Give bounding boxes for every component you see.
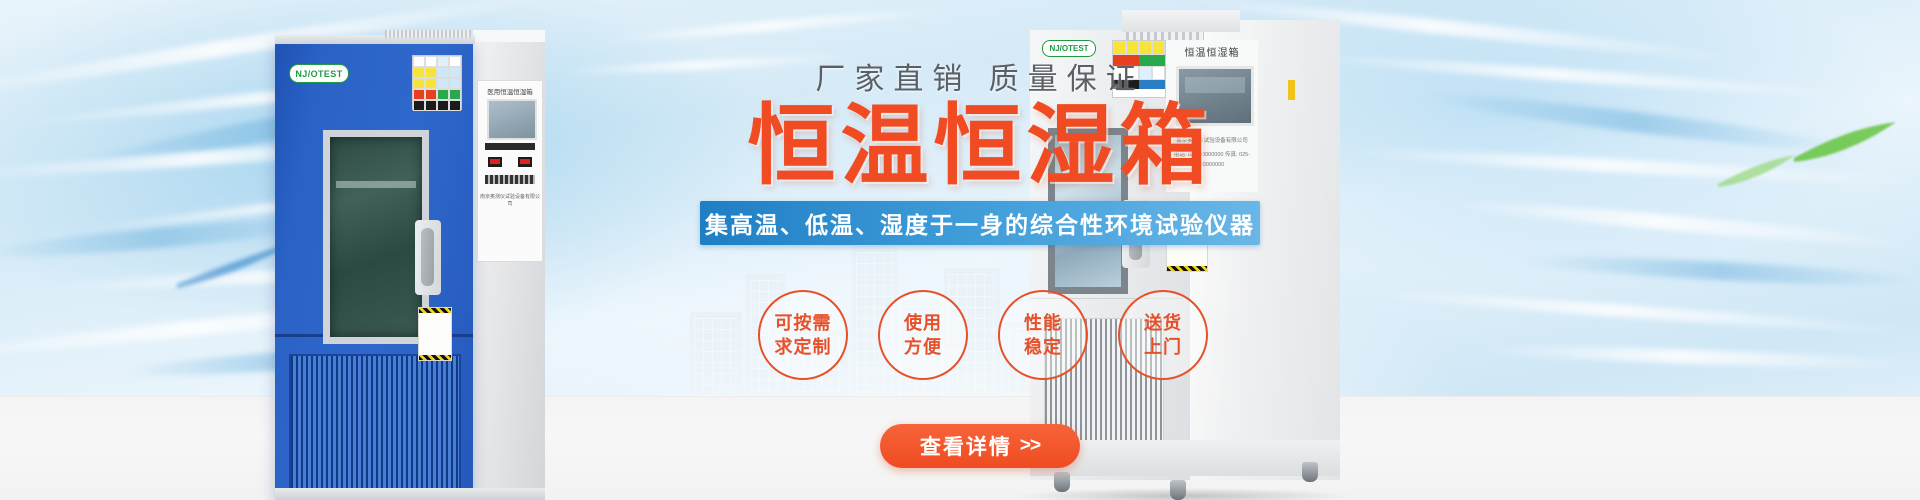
feature-badge-easy-use-line1: 使用	[904, 311, 942, 335]
feature-badge-stable-line1: 性能	[1024, 311, 1062, 335]
machine-left-caution-label	[418, 307, 452, 361]
machine-left-led-temp	[488, 157, 502, 167]
product-image-blue-chamber[interactable]: NJ/OTEST 医用恒温恒湿箱 南京奥测仪试验设备有限公司	[275, 30, 545, 500]
machine-left-control-panel[interactable]: 医用恒温恒湿箱 南京奥测仪试验设备有限公司	[477, 80, 543, 262]
caution-stripe-bottom	[419, 355, 451, 360]
machine-right-caster-rear	[1302, 462, 1318, 482]
machine-left-label-strip	[485, 143, 535, 150]
chevron-right-double-icon: >>	[1020, 435, 1040, 457]
feature-badge-easy-use-line2: 方便	[904, 335, 942, 359]
machine-left-led-humidity	[518, 157, 532, 167]
machine-right-top-cap	[1122, 10, 1240, 32]
feature-badge-custom-line1: 可按需	[775, 311, 832, 335]
feature-badge-delivery[interactable]: 送货 上门	[1118, 290, 1208, 380]
machine-left-brand-text: NJ/OTEST	[295, 69, 342, 79]
green-leaf-icon	[1790, 118, 1900, 168]
green-leaf-small-icon	[1715, 152, 1799, 192]
banner-subtitle-text: 集高温、低温、湿度于一身的综合性环境试验仪器	[705, 206, 1255, 240]
view-details-button[interactable]: 查看详情 >>	[880, 424, 1080, 468]
machine-right-caster-front-left	[1054, 472, 1070, 492]
feature-badge-custom-line2: 求定制	[775, 335, 832, 359]
feature-badge-group: 可按需 求定制 使用 方便 性能 稳定 送货 上门	[758, 290, 1208, 380]
machine-left-viewing-window	[323, 130, 429, 344]
machine-left-brand-logo: NJ/OTEST	[289, 64, 349, 83]
machine-left-company-text: 南京奥测仪试验设备有限公司	[478, 193, 542, 207]
machine-left-top-vent	[385, 30, 471, 38]
machine-left-warning-sticker	[412, 55, 462, 110]
feature-badge-stable-line2: 稳定	[1024, 335, 1062, 359]
feature-badge-delivery-line2: 上门	[1144, 335, 1182, 359]
feature-badge-stable[interactable]: 性能 稳定	[998, 290, 1088, 380]
caution-stripe-bottom-right	[1167, 266, 1207, 271]
banner-headline: 恒温恒湿箱	[700, 101, 1260, 191]
banner-copy-block: 厂家直销 质量保证 恒温恒湿箱 集高温、低温、湿度于一身的综合性环境试验仪器	[700, 54, 1260, 245]
machine-left-panel-title: 医用恒温恒湿箱	[478, 86, 542, 96]
feature-badge-custom[interactable]: 可按需 求定制	[758, 290, 848, 380]
caution-stripe-top	[419, 308, 451, 313]
machine-right-caster-front-right	[1170, 480, 1186, 500]
machine-left-window-reflection	[336, 181, 417, 188]
banner-kicker: 厂家直销 质量保证	[700, 54, 1260, 98]
machine-left-display-screen[interactable]	[487, 99, 537, 140]
feature-badge-easy-use[interactable]: 使用 方便	[878, 290, 968, 380]
machine-left-base	[275, 488, 545, 500]
feature-badge-delivery-line1: 送货	[1144, 311, 1182, 335]
machine-left-side-top	[473, 30, 545, 42]
machine-right-brand-text: NJ/OTEST	[1049, 44, 1088, 53]
promo-banner: NJ/OTEST 医用恒温恒湿箱 南京奥测仪试验设备有限公司	[0, 0, 1920, 500]
banner-subtitle-bar: 集高温、低温、湿度于一身的综合性环境试验仪器	[700, 201, 1260, 245]
view-details-label: 查看详情	[920, 431, 1012, 461]
machine-left-vent-grille	[289, 354, 461, 493]
machine-left-door-handle[interactable]	[421, 228, 434, 286]
machine-left-button-row[interactable]	[485, 175, 535, 184]
machine-right-yellow-tag	[1288, 80, 1295, 100]
